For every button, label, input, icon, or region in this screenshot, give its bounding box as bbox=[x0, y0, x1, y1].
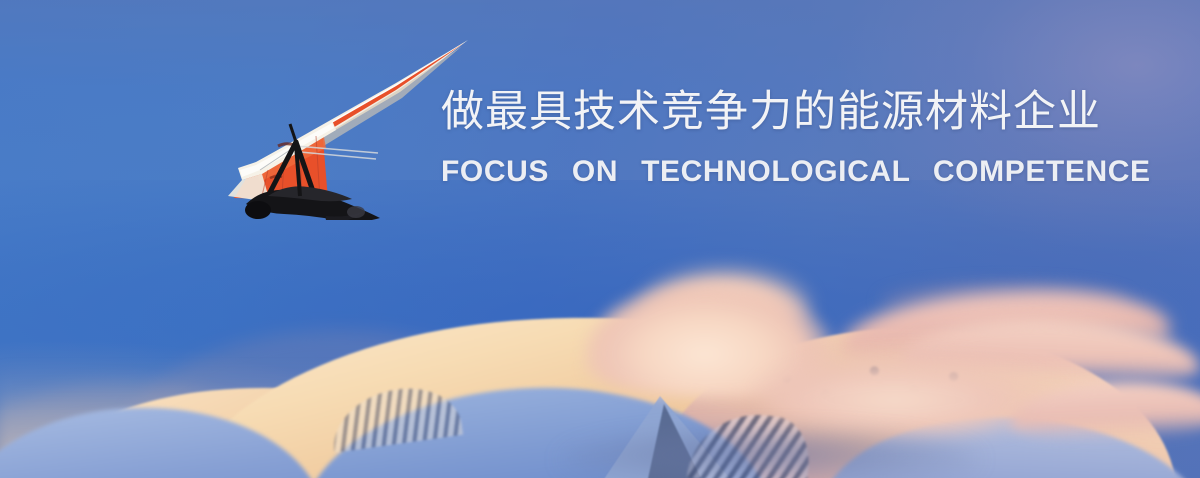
hero-banner: 做最具技术竞争力的能源材料企业 FOCUS ON TECHNOLOGICAL C… bbox=[0, 0, 1200, 478]
hang-glider bbox=[150, 20, 480, 220]
hang-glider-icon bbox=[150, 20, 480, 220]
page-title: 做最具技术竞争力的能源材料企业 bbox=[441, 90, 1193, 135]
page-subtitle: FOCUS ON TECHNOLOGICAL COMPETENCE bbox=[441, 155, 1151, 189]
